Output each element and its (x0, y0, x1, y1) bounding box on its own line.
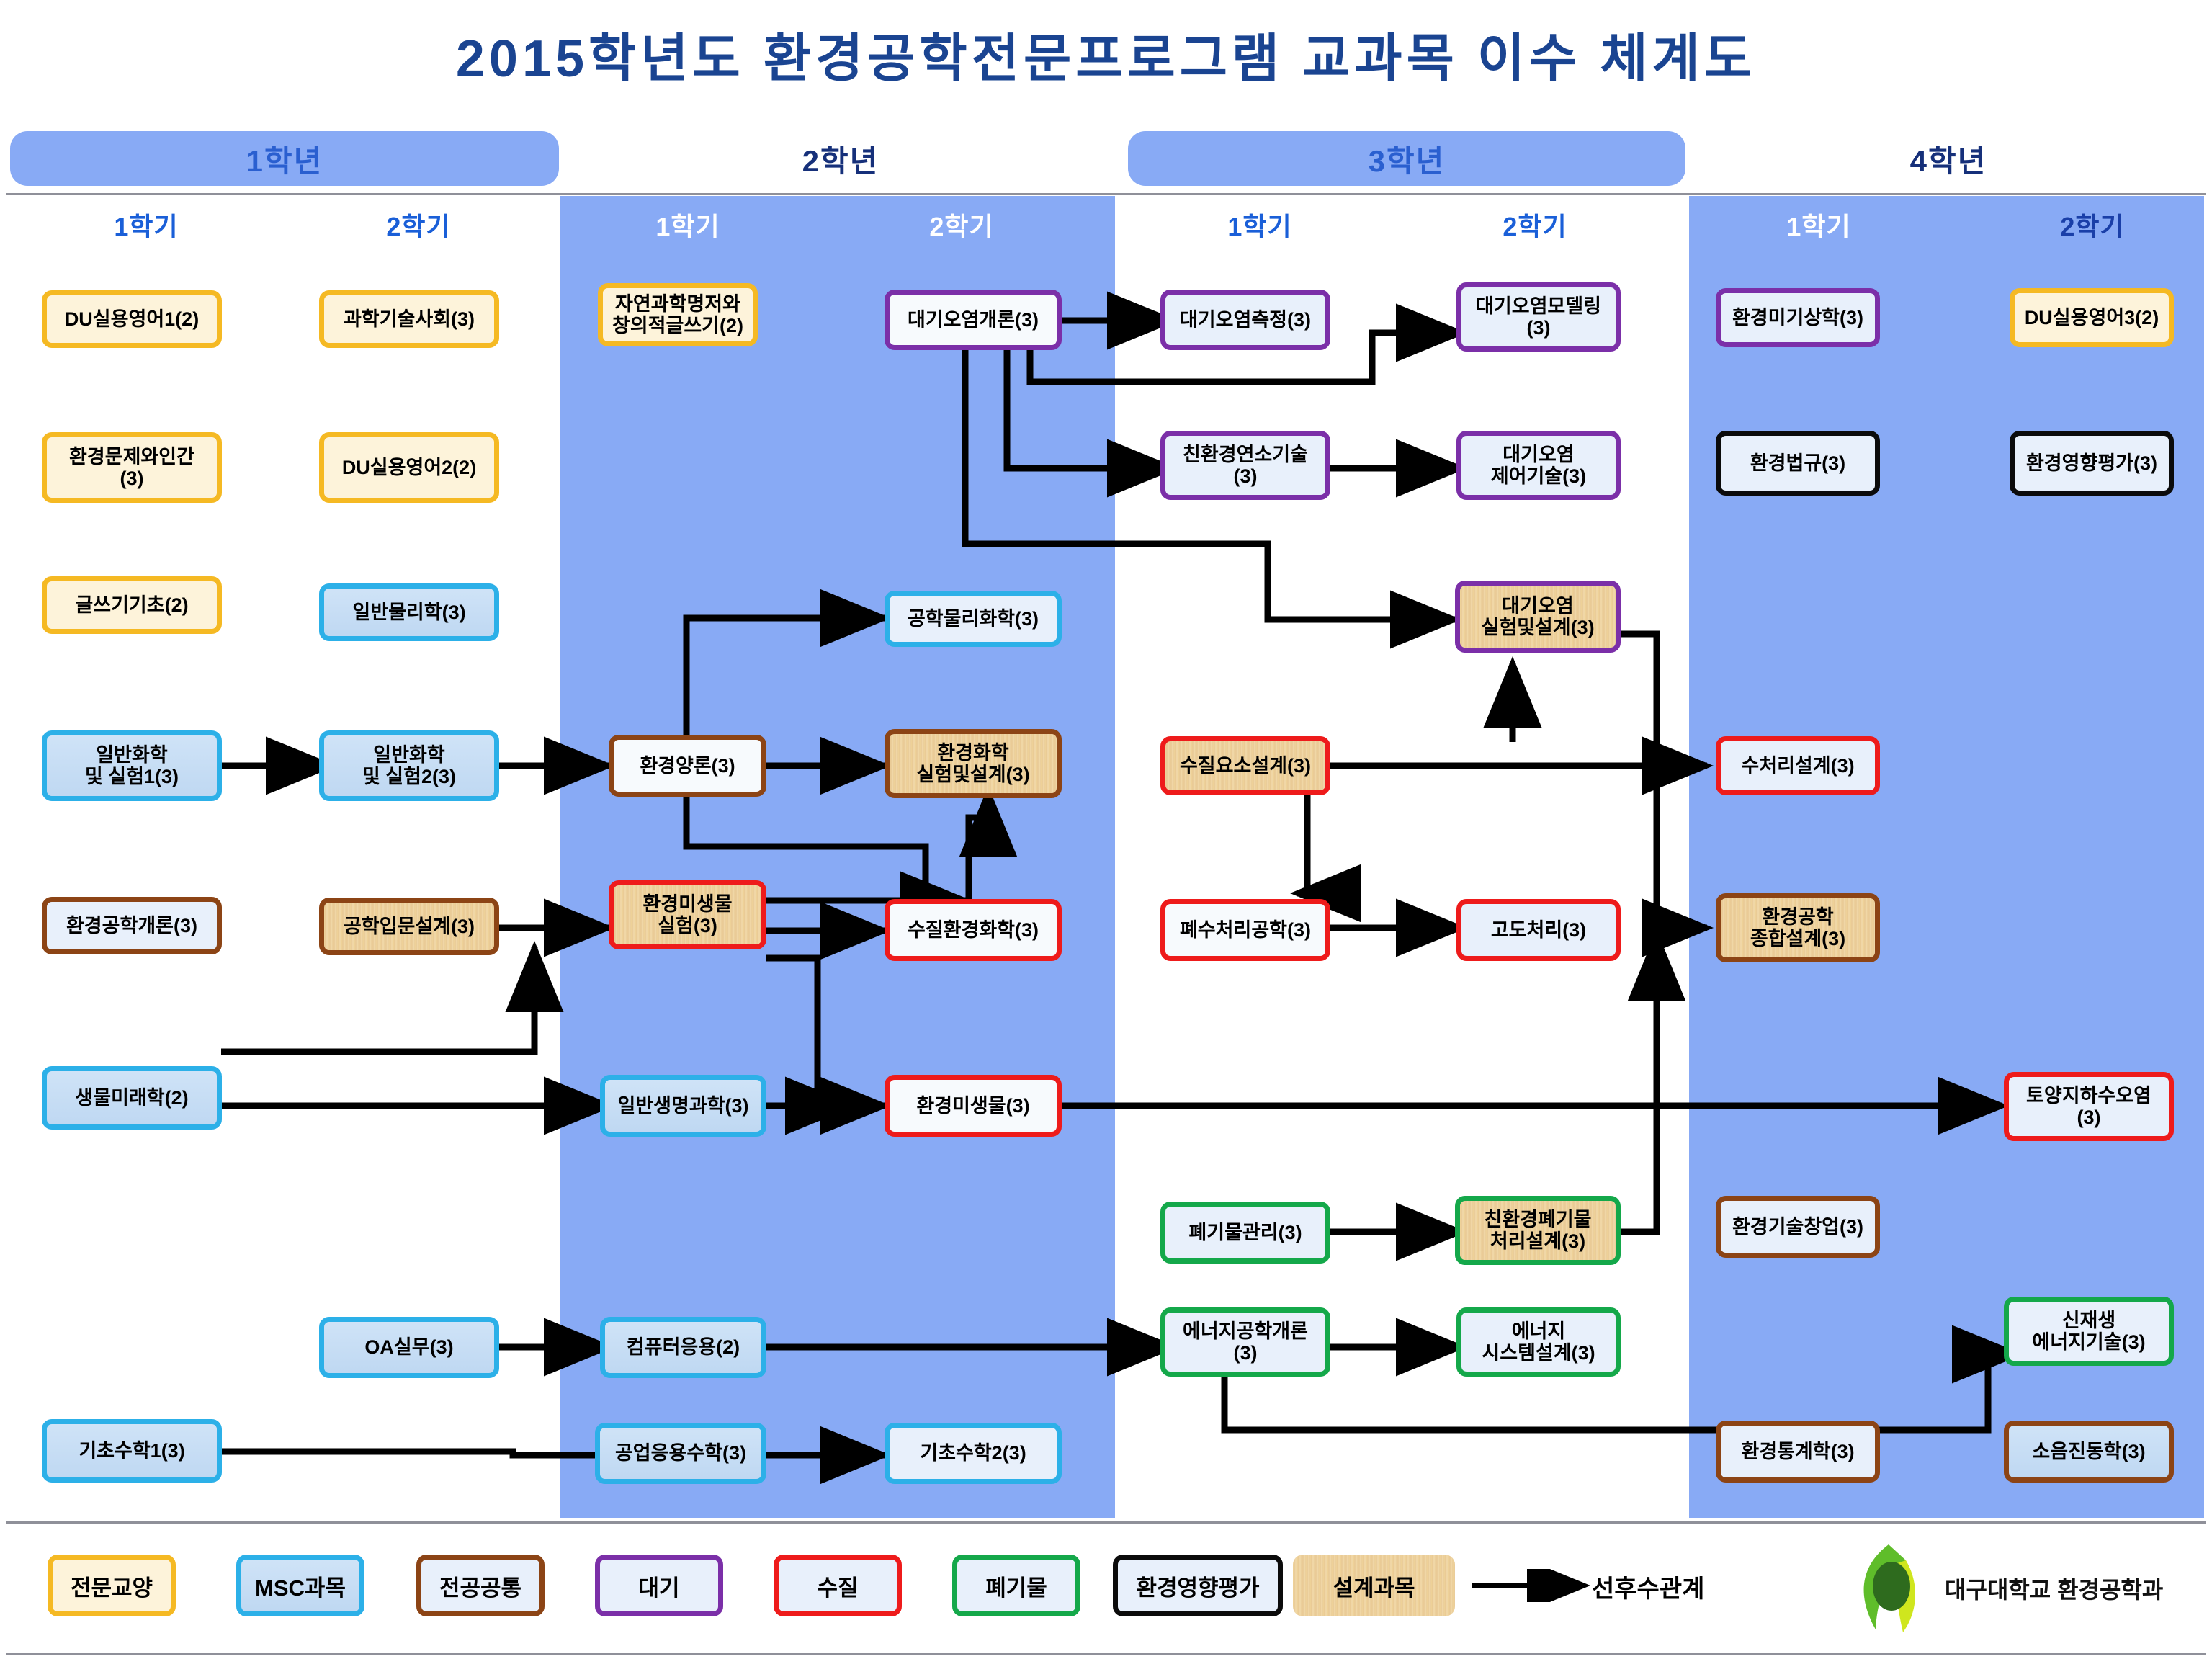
course-box[interactable]: 일반물리학(3) (319, 583, 499, 641)
course-box[interactable]: 공업응용수학(3) (595, 1423, 766, 1484)
semester-label-y4s2: 2학기 (1988, 203, 2197, 246)
semester-label-y3s2: 2학기 (1430, 203, 1639, 246)
course-box[interactable]: 에너지공학개론 (3) (1160, 1307, 1330, 1377)
course-box[interactable]: 환경화학 실험및설계(3) (885, 729, 1062, 798)
course-box[interactable]: 대기오염측정(3) (1160, 290, 1330, 350)
course-box[interactable]: 자연과학명저와 창의적글쓰기(2) (598, 283, 758, 346)
course-box[interactable]: 고도처리(3) (1456, 899, 1621, 961)
legend-arrow-label: 선후수관계 (1592, 1565, 1704, 1608)
year-header-2: 2학년 (566, 131, 1115, 186)
course-box[interactable]: 에너지 시스템설계(3) (1456, 1307, 1621, 1377)
course-box[interactable]: 친환경폐기물 처리설계(3) (1455, 1196, 1621, 1265)
course-box[interactable]: 환경법규(3) (1716, 431, 1880, 496)
course-box[interactable]: 소음진동학(3) (2004, 1421, 2174, 1483)
course-box[interactable]: 생물미래학(2) (42, 1066, 222, 1130)
course-box[interactable]: 환경통계학(3) (1716, 1421, 1880, 1483)
legend-item-eia: 환경영향평가 (1113, 1555, 1283, 1616)
course-box[interactable]: 과학기술사회(3) (319, 290, 499, 348)
header-divider (6, 193, 2206, 195)
legend-item-general-education: 전문교양 (48, 1555, 176, 1616)
course-box[interactable]: 대기오염 실험및설계(3) (1455, 581, 1621, 653)
course-box[interactable]: 환경미생물 실험(3) (609, 880, 766, 949)
year-header-1-label: 1학년 (246, 137, 323, 181)
course-box[interactable]: 수질환경화학(3) (885, 899, 1062, 961)
course-box[interactable]: 대기오염모델링 (3) (1456, 282, 1621, 352)
course-box[interactable]: 환경공학개론(3) (42, 897, 222, 954)
course-box[interactable]: 대기오염개론(3) (885, 290, 1062, 350)
semester-text: 1학기 (1786, 206, 1850, 243)
course-box[interactable]: 글쓰기기초(2) (42, 576, 222, 634)
semester-text: 1학기 (114, 206, 178, 243)
course-box[interactable]: 일반화학 및 실험1(3) (42, 730, 222, 801)
legend-item-design-course: 설계과목 (1293, 1555, 1455, 1616)
course-box[interactable]: 환경문제와인간 (3) (42, 432, 222, 503)
course-box[interactable]: 환경양론(3) (609, 735, 766, 797)
course-box[interactable]: 폐기물관리(3) (1160, 1202, 1330, 1264)
legend-top-divider (6, 1521, 2206, 1524)
page-title: 2015학년도 환경공학전문프로그램 교과목 이수 체계도 (0, 16, 2212, 91)
department-name: 대구대학교 환경공학과 (1945, 1567, 2163, 1610)
semester-label-y1s2: 2학기 (314, 203, 523, 246)
course-box[interactable]: 환경영향평가(3) (2010, 431, 2174, 496)
course-box[interactable]: 신재생 에너지기술(3) (2004, 1297, 2174, 1366)
course-box[interactable]: 대기오염 제어기술(3) (1456, 431, 1621, 500)
course-box[interactable]: 공학입문설계(3) (319, 898, 499, 955)
semester-label-y2s1: 1학기 (583, 203, 792, 246)
course-box[interactable]: 수처리설계(3) (1716, 736, 1880, 795)
year-header-3-label: 3학년 (1369, 137, 1446, 181)
year-header-1: 1학년 (10, 131, 559, 186)
semester-label-y4s1: 1학기 (1714, 203, 1923, 246)
curriculum-flowchart: 2015학년도 환경공학전문프로그램 교과목 이수 체계도 1학년 2학년 3학… (0, 0, 2212, 1659)
course-box[interactable]: 일반화학 및 실험2(3) (319, 730, 499, 801)
course-box[interactable]: 기초수학1(3) (42, 1419, 222, 1483)
semester-text: 2학기 (1503, 206, 1567, 243)
course-box[interactable]: DU실용영어2(2) (319, 432, 499, 503)
university-logo-icon (1844, 1542, 1938, 1635)
legend-item-msc: MSC과목 (236, 1555, 364, 1616)
course-box[interactable]: 공학물리화학(3) (885, 591, 1062, 647)
semester-text: 1학기 (1227, 206, 1291, 243)
legend-item-water: 수질 (774, 1555, 902, 1616)
semester-text: 2학기 (2060, 206, 2124, 243)
course-box[interactable]: 일반생명과학(3) (600, 1075, 766, 1137)
year-header-3: 3학년 (1128, 131, 1685, 186)
course-box[interactable]: 환경미기상학(3) (1716, 288, 1880, 347)
semester-text: 2학기 (929, 206, 993, 243)
semester-text: 2학기 (386, 206, 450, 243)
semester-label-y3s1: 1학기 (1155, 203, 1364, 246)
year-header-4: 4학년 (1693, 131, 2204, 186)
legend-item-waste: 폐기물 (952, 1555, 1080, 1616)
course-box[interactable]: 환경미생물(3) (885, 1075, 1062, 1137)
course-box[interactable]: DU실용영어3(2) (2010, 288, 2174, 347)
semester-text: 1학기 (655, 206, 720, 243)
semester-label-y1s1: 1학기 (42, 203, 251, 246)
legend-item-major-common: 전공공통 (416, 1555, 545, 1616)
course-box[interactable]: 환경공학 종합설계(3) (1716, 893, 1880, 962)
year-header-2-label: 2학년 (802, 137, 879, 181)
course-box[interactable]: 기초수학2(3) (885, 1423, 1062, 1484)
legend-arrow-icon (1469, 1569, 1599, 1602)
course-box[interactable]: 환경기술창업(3) (1716, 1196, 1880, 1258)
year-header-4-label: 4학년 (1910, 137, 1987, 181)
course-box[interactable]: 토양지하수오염 (3) (2004, 1072, 2174, 1141)
course-box[interactable]: 친환경연소기술 (3) (1160, 431, 1330, 500)
legend-bottom-divider (6, 1653, 2206, 1655)
course-box[interactable]: OA실무(3) (319, 1317, 499, 1378)
course-box[interactable]: DU실용영어1(2) (42, 290, 222, 348)
semester-label-y2s2: 2학기 (857, 203, 1066, 246)
course-box[interactable]: 폐수처리공학(3) (1160, 899, 1330, 961)
course-box[interactable]: 수질요소설계(3) (1160, 736, 1330, 795)
legend-item-air: 대기 (595, 1555, 723, 1616)
course-box[interactable]: 컴퓨터응용(2) (600, 1317, 766, 1378)
